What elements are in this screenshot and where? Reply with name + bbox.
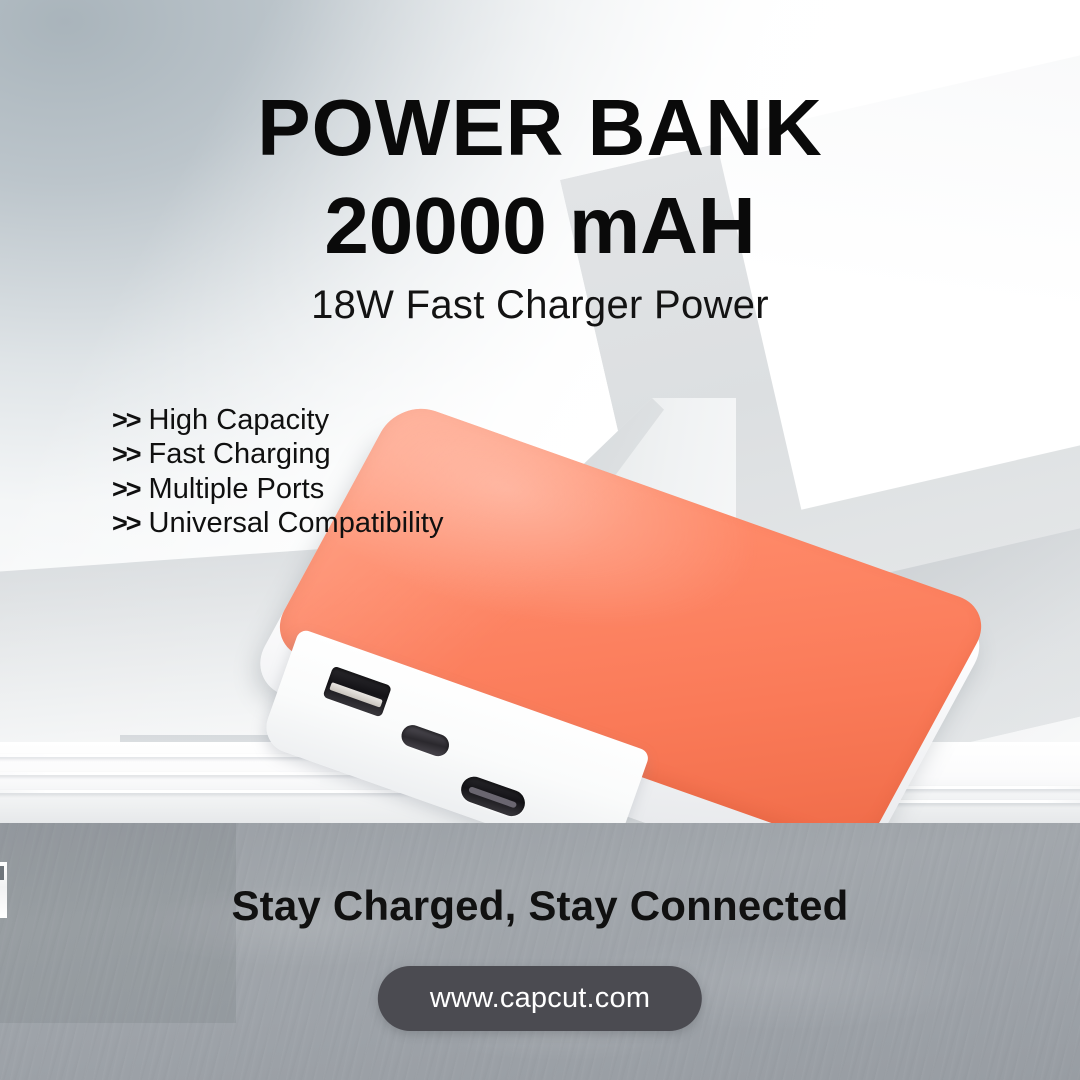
page-title-line-2: 20000 mAH [0,186,1080,266]
tagline: Stay Charged, Stay Connected [0,882,1080,930]
website-url-button[interactable]: www.capcut.com [378,966,702,1031]
page-subtitle: 18W Fast Charger Power [0,283,1080,328]
chevron-double-right-icon: >> [112,406,140,435]
feature-list: >> High Capacity >> Fast Charging >> Mul… [112,405,632,542]
chevron-double-right-icon: >> [112,475,140,504]
list-item: >> High Capacity [112,405,632,436]
micro-usb-port-icon [398,722,452,759]
feature-label: Multiple Ports [149,474,325,505]
feature-label: Fast Charging [149,439,331,470]
feature-label: High Capacity [149,405,330,436]
page-title-line-1: POWER BANK [0,88,1080,168]
list-item: >> Fast Charging [112,439,632,470]
feature-label: Universal Compatibility [149,508,444,539]
product-advertisement-poster: POWER BANK 20000 mAH 18W Fast Charger Po… [0,0,1080,1080]
list-item: >> Universal Compatibility [112,508,632,539]
left-edge-notch-dark [0,866,4,880]
chevron-double-right-icon: >> [112,440,140,469]
chevron-double-right-icon: >> [112,509,140,538]
list-item: >> Multiple Ports [112,474,632,505]
